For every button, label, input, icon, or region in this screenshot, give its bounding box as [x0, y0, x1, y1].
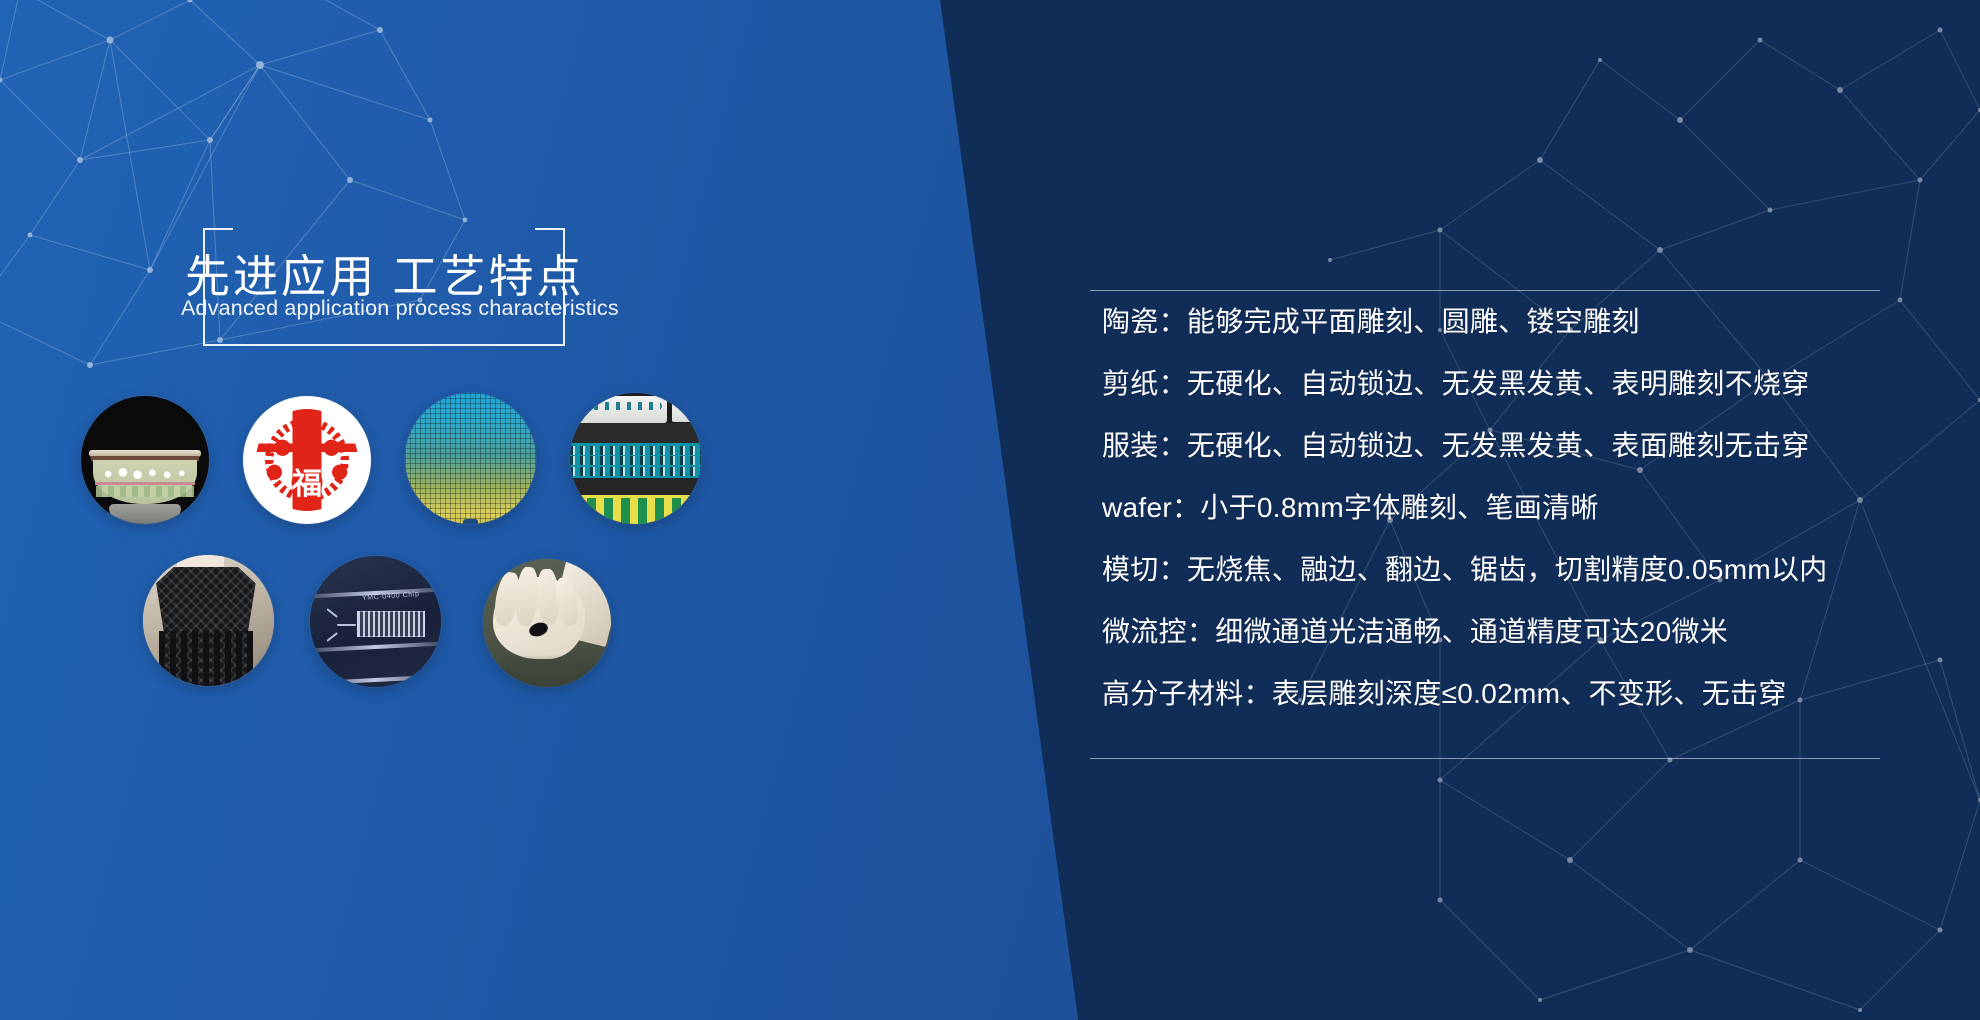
- spec-item-ceramic: 陶瓷：能够完成平面雕刻、圆雕、镂空雕刻: [1102, 308, 1980, 336]
- thumbnail-die-cut-bands[interactable]: [570, 393, 701, 524]
- thumbnail-paper-cut-fu[interactable]: 福: [243, 396, 371, 524]
- spec-item-wafer: wafer：小于0.8mm字体雕刻、笔画清晰: [1102, 494, 1980, 522]
- divider-top: [1090, 290, 1880, 291]
- die-cut-bands-image: [570, 393, 701, 524]
- spec-item-polymer: 高分子材料：表层雕刻深度≤0.02mm、不变形、无击穿: [1102, 680, 1980, 708]
- spec-item-apparel: 服装：无硬化、自动锁边、无发黑发黄、表面雕刻无击穿: [1102, 432, 1980, 460]
- thumbnail-laser-cut-garment[interactable]: [143, 555, 274, 686]
- page-subtitle: Advanced application process characteris…: [181, 296, 781, 321]
- thumbnail-silicon-wafer[interactable]: [405, 393, 536, 524]
- paper-cut-fu-image: 福: [243, 396, 371, 524]
- spec-item-papercut: 剪纸：无硬化、自动锁边、无发黑发黄、表明雕刻不烧穿: [1102, 370, 1980, 398]
- spec-item-diecut: 模切：无烧焦、融边、翻边、锯齿，切割精度0.05mm以内: [1102, 556, 1980, 584]
- microfluidic-chip-image: YMC-0400 Chip: [310, 556, 441, 687]
- thumbnail-ceramic-bowl[interactable]: [81, 396, 209, 524]
- thumbnail-polymer-material[interactable]: [483, 559, 611, 687]
- divider-bottom: [1090, 758, 1880, 759]
- ceramic-bowl-image: [81, 396, 209, 524]
- polymer-material-image: [483, 559, 611, 687]
- laser-cut-garment-image: [143, 555, 274, 686]
- silicon-wafer-image: [405, 393, 536, 524]
- fu-character: 福: [243, 470, 371, 500]
- specification-list: 陶瓷：能够完成平面雕刻、圆雕、镂空雕刻 剪纸：无硬化、自动锁边、无发黑发黄、表明…: [1102, 308, 1980, 708]
- thumbnail-microfluidic-chip[interactable]: YMC-0400 Chip: [310, 556, 441, 687]
- page-title: 先进应用 工艺特点: [185, 252, 745, 302]
- specifications-panel: 陶瓷：能够完成平面雕刻、圆雕、镂空雕刻 剪纸：无硬化、自动锁边、无发黑发黄、表明…: [1090, 0, 1980, 1020]
- advanced-application-banner: 先进应用 工艺特点 Advanced application process c…: [0, 0, 1980, 1020]
- spec-item-microfluidics: 微流控：细微通道光洁通畅、通道精度可达20微米: [1102, 618, 1980, 646]
